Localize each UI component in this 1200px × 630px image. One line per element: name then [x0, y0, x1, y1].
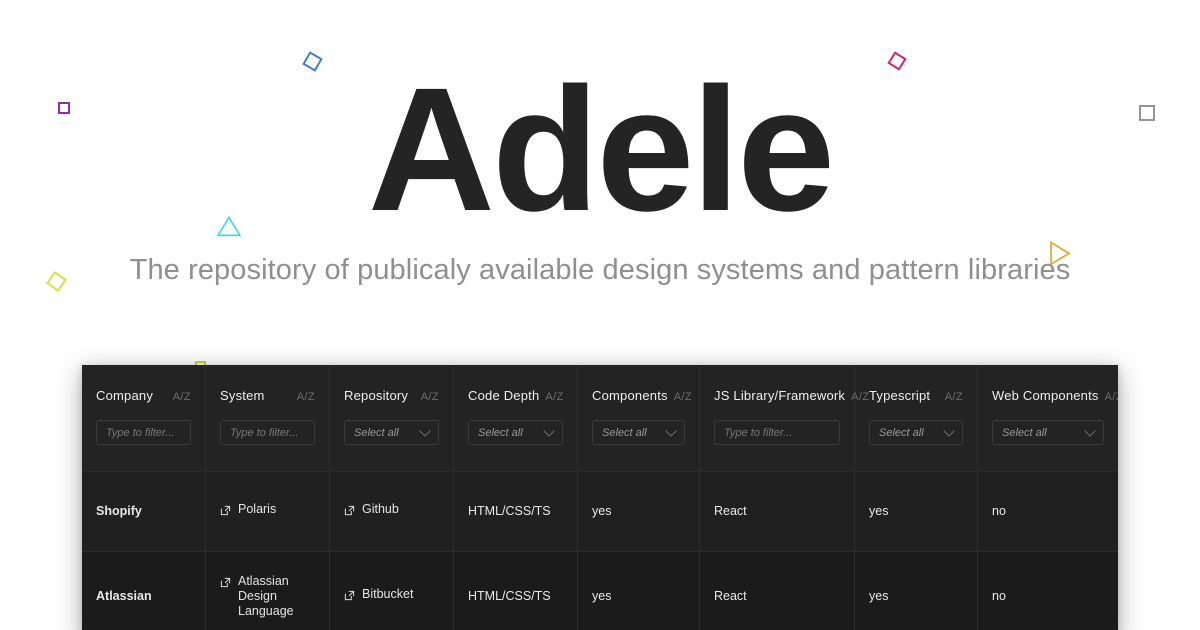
cell-typescript: yes [855, 472, 978, 551]
cell-value: HTML/CSS/TS [468, 504, 551, 519]
page-root: Adele The repository of publicaly availa… [0, 0, 1200, 630]
cell-value: Shopify [96, 504, 142, 519]
cell-value: Polaris [238, 502, 276, 517]
cell-web_components: no [978, 472, 1118, 551]
header-label-group: CompanyA/Z [96, 388, 191, 403]
repository-link[interactable]: Github [344, 502, 399, 521]
system-link[interactable]: Atlassian Design Language [220, 574, 315, 619]
header-label-group: Code DepthA/Z [468, 388, 563, 403]
table-row[interactable]: ShopifyPolarisGithubHTML/CSS/TSyesReacty… [82, 471, 1118, 551]
cell-value: Atlassian Design Language [238, 574, 315, 619]
design-systems-table: CompanyA/ZType to filter...SystemA/ZType… [82, 365, 1118, 630]
filter-select-4[interactable]: Select all [592, 420, 685, 445]
table-header-cell-components: ComponentsA/ZSelect all [578, 365, 700, 471]
system-link[interactable]: Polaris [220, 502, 276, 521]
sort-az-button[interactable]: A/Z [167, 391, 191, 403]
cell-components: yes [578, 472, 700, 551]
table-header-cell-js-library-framework: JS Library/FrameworkA/ZType to filter... [700, 365, 855, 471]
cell-value: yes [869, 589, 888, 604]
table-header-cell-typescript: TypescriptA/ZSelect all [855, 365, 978, 471]
table-header-cell-system: SystemA/ZType to filter... [206, 365, 330, 471]
page-title: Adele [0, 62, 1200, 238]
cell-web_components: no [978, 552, 1118, 630]
select-value: Select all [354, 427, 415, 439]
select-value: Select all [1002, 427, 1080, 439]
table-row[interactable]: AtlassianAtlassian Design LanguageBitbuc… [82, 551, 1118, 630]
header-label-group: JS Library/FrameworkA/Z [714, 388, 840, 403]
select-value: Select all [478, 427, 539, 439]
cell-system: Atlassian Design Language [206, 552, 330, 630]
cell-value: yes [592, 589, 611, 604]
sort-az-button[interactable]: A/Z [939, 391, 963, 403]
header-label-group: RepositoryA/Z [344, 388, 439, 403]
sort-az-button[interactable]: A/Z [668, 391, 692, 403]
sort-az-button[interactable]: A/Z [539, 391, 563, 403]
repository-link[interactable]: Bitbucket [344, 587, 413, 606]
cell-value: no [992, 504, 1006, 519]
header-label-group: Web ComponentsA/Z [992, 388, 1104, 403]
sort-az-button[interactable]: A/Z [415, 391, 439, 403]
select-value: Select all [602, 427, 661, 439]
column-label: System [220, 388, 265, 403]
cell-repository: Bitbucket [330, 552, 454, 630]
sort-az-button[interactable]: A/Z [1099, 391, 1118, 403]
filter-input-0[interactable]: Type to filter... [96, 420, 191, 445]
table-header-row: CompanyA/ZType to filter...SystemA/ZType… [82, 365, 1118, 471]
header-label-group: TypescriptA/Z [869, 388, 963, 403]
chevron-down-icon [665, 425, 676, 436]
cell-company: Atlassian [82, 552, 206, 630]
chevron-down-icon [943, 425, 954, 436]
cell-company: Shopify [82, 472, 206, 551]
cell-value: HTML/CSS/TS [468, 589, 551, 604]
chevron-down-icon [1084, 425, 1095, 436]
table-header-cell-company: CompanyA/ZType to filter... [82, 365, 206, 471]
filter-select-7[interactable]: Select all [992, 420, 1104, 445]
filter-input-1[interactable]: Type to filter... [220, 420, 315, 445]
input-placeholder: Type to filter... [230, 427, 305, 439]
cell-value: yes [869, 504, 888, 519]
external-link-icon [220, 503, 231, 521]
cell-value: Bitbucket [362, 587, 413, 602]
cell-typescript: yes [855, 552, 978, 630]
chevron-down-icon [543, 425, 554, 436]
column-label: Company [96, 388, 153, 403]
column-label: JS Library/Framework [714, 388, 845, 403]
input-placeholder: Type to filter... [106, 427, 181, 439]
cell-js_library: React [700, 552, 855, 630]
column-label: Repository [344, 388, 408, 403]
cell-value: Github [362, 502, 399, 517]
external-link-icon [220, 575, 231, 593]
select-value: Select all [879, 427, 939, 439]
external-link-icon [344, 588, 355, 606]
cell-value: React [714, 504, 747, 519]
cell-value: yes [592, 504, 611, 519]
cell-value: no [992, 589, 1006, 604]
cell-js_library: React [700, 472, 855, 551]
filter-select-2[interactable]: Select all [344, 420, 439, 445]
cell-value: Atlassian [96, 589, 152, 604]
chevron-down-icon [419, 425, 430, 436]
column-label: Components [592, 388, 668, 403]
input-placeholder: Type to filter... [724, 427, 830, 439]
filter-select-3[interactable]: Select all [468, 420, 563, 445]
table-header-cell-web-components: Web ComponentsA/ZSelect all [978, 365, 1118, 471]
filter-input-5[interactable]: Type to filter... [714, 420, 840, 445]
cell-system: Polaris [206, 472, 330, 551]
page-subtitle: The repository of publicaly available de… [0, 252, 1200, 289]
column-label: Web Components [992, 388, 1099, 403]
cell-code_depth: HTML/CSS/TS [454, 552, 578, 630]
cell-code_depth: HTML/CSS/TS [454, 472, 578, 551]
header-label-group: SystemA/Z [220, 388, 315, 403]
external-link-icon [344, 503, 355, 521]
cell-components: yes [578, 552, 700, 630]
table-header-cell-repository: RepositoryA/ZSelect all [330, 365, 454, 471]
column-label: Code Depth [468, 388, 539, 403]
filter-select-6[interactable]: Select all [869, 420, 963, 445]
sort-az-button[interactable]: A/Z [291, 391, 315, 403]
cell-value: React [714, 589, 747, 604]
cell-repository: Github [330, 472, 454, 551]
header-label-group: ComponentsA/Z [592, 388, 685, 403]
column-label: Typescript [869, 388, 930, 403]
table-header-cell-code-depth: Code DepthA/ZSelect all [454, 365, 578, 471]
hero-section: Adele The repository of publicaly availa… [0, 0, 1200, 289]
